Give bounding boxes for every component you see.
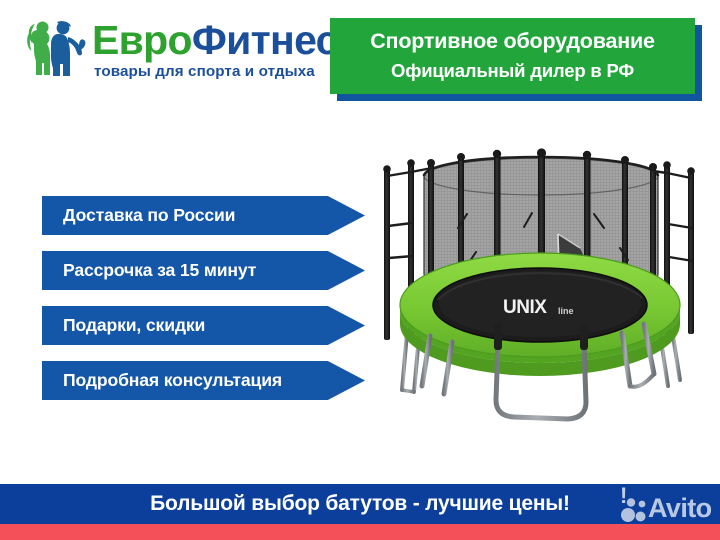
logo-wordmark: ЕвроФитнес: [92, 17, 324, 63]
fitness-people-icon: [26, 20, 92, 78]
brand-logo: ЕвроФитнес товары для спорта и отдыха: [24, 18, 324, 90]
avito-logo-icon: [620, 496, 648, 524]
feature-label-gifts: Подарки, скидки: [63, 306, 205, 345]
logo-word-evro: Евро: [92, 17, 192, 63]
header-banner: Спортивное оборудование Официальный диле…: [330, 18, 695, 94]
footer-banner: Большой выбор батутов - лучшие цены!: [0, 484, 720, 524]
footer-banner-text: Большой выбор батутов - лучшие цены!: [0, 484, 720, 524]
logo-word-fitnes: Фитнес: [192, 17, 338, 63]
trampoline-product-image: UNIX line: [372, 128, 712, 468]
product-brand-subtext: line: [558, 306, 574, 316]
header-banner-subtitle: Официальный дилер в РФ: [330, 60, 695, 82]
logo-tagline: товары для спорта и отдыха: [94, 63, 328, 80]
product-brand-text: UNIX: [503, 297, 547, 318]
feature-label-consultation: Подробная консультация: [63, 361, 282, 400]
footer-accent-strip: [0, 524, 720, 540]
feature-label-installment: Рассрочка за 15 минут: [63, 251, 256, 290]
feature-label-delivery: Доставка по России: [63, 196, 235, 235]
avito-watermark: ! Avito: [618, 492, 720, 532]
header-banner-title: Спортивное оборудование: [330, 29, 695, 54]
promo-banner-canvas: ЕвроФитнес товары для спорта и отдыха Сп…: [0, 0, 720, 540]
avito-wordmark: Avito: [648, 493, 712, 524]
